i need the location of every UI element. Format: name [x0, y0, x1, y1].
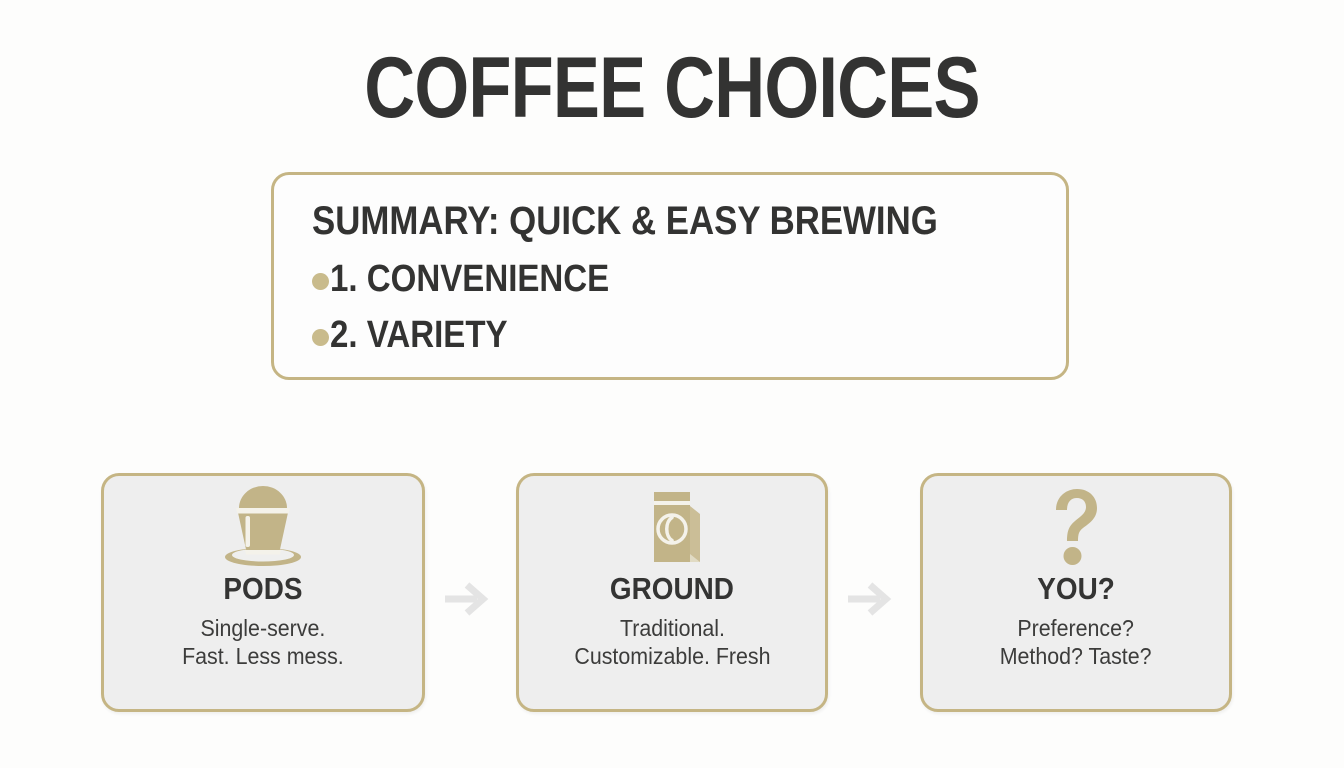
card-title: YOU?: [1037, 572, 1115, 606]
bullet-dot-icon: [312, 329, 329, 346]
arrow-right-icon: [844, 579, 896, 619]
card-title: PODS: [223, 572, 302, 606]
card-description: Preference? Method? Taste?: [1000, 614, 1152, 670]
flow-card-ground: GROUND Traditional. Customizable. Fresh: [516, 473, 828, 712]
coffee-pod-icon: [217, 484, 309, 570]
card-description: Single-serve. Fast. Less mess.: [182, 614, 344, 670]
card-description-line: Fast. Less mess.: [182, 642, 344, 670]
summary-list-item: 2. VARIETY: [312, 307, 1066, 363]
question-mark-icon: [1046, 484, 1106, 570]
summary-item-label: 2. VARIETY: [330, 313, 508, 357]
card-description-line: Single-serve.: [182, 614, 344, 642]
summary-list-item: 1. CONVENIENCE: [312, 251, 1066, 307]
flow-card-pods: PODS Single-serve. Fast. Less mess.: [101, 473, 425, 712]
summary-item-label: 1. CONVENIENCE: [330, 257, 609, 301]
card-description-line: Traditional.: [574, 614, 770, 642]
bullet-dot-icon: [312, 273, 329, 290]
arrow-right-icon: [441, 579, 493, 619]
card-description: Traditional. Customizable. Fresh: [574, 614, 770, 670]
card-description-line: Customizable. Fresh: [574, 642, 770, 670]
flow-card-you: YOU? Preference? Method? Taste?: [920, 473, 1232, 712]
page-title: COFFEE CHOICES: [121, 40, 1223, 136]
summary-box: SUMMARY: QUICK & EASY BREWING 1. CONVENI…: [271, 172, 1069, 380]
summary-heading: SUMMARY: QUICK & EASY BREWING: [312, 197, 968, 245]
coffee-bag-icon: [632, 484, 712, 570]
card-description-line: Preference?: [1000, 614, 1152, 642]
card-description-line: Method? Taste?: [1000, 642, 1152, 670]
card-title: GROUND: [610, 572, 734, 606]
flow-diagram: PODS Single-serve. Fast. Less mess.: [0, 473, 1344, 713]
